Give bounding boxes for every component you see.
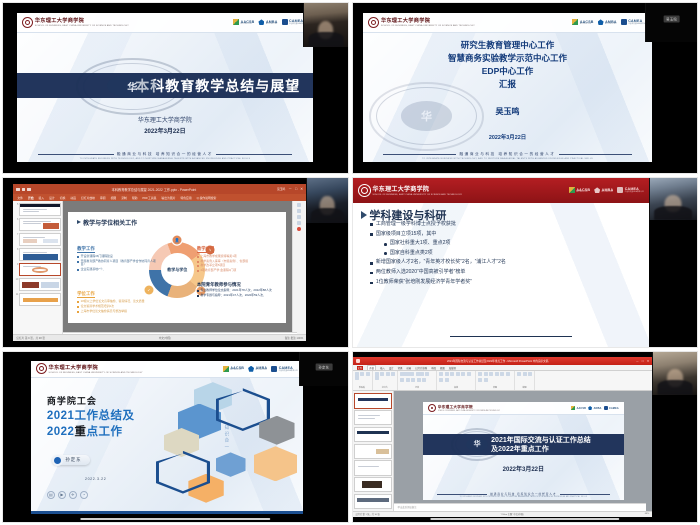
slide-header-2: 华东理工大学商学院 SCHOOL OF BUSINESS, EAST CHINA…	[363, 13, 652, 32]
slide-thumbnail-pane[interactable]: 5 6	[13, 201, 63, 333]
app-icon	[356, 359, 360, 363]
ribbon-tabs[interactable]: 文件 开始 插入 设计 切换 动画 幻灯片放映 审阅 视图 录制 帮助 PDF工…	[13, 194, 306, 201]
participant-body	[655, 206, 693, 220]
shared-slide-4: 华东理工大学商学院 SCHOOL OF BUSINESS, EAST CHINA…	[353, 178, 649, 348]
quadrant-item: 上海市学位论文抽检情况与整改举措	[81, 310, 127, 314]
minimize-icon[interactable]: －	[288, 188, 292, 192]
aacsb-badge-2: AACSB ACCREDITED	[572, 19, 593, 25]
tab-home[interactable]: 开始	[367, 365, 376, 370]
slide-thumbnail[interactable]	[19, 233, 61, 246]
bullet-text: 两位教师入选2020“中国高被引学者”榜单	[376, 270, 465, 276]
camea-icon	[282, 19, 288, 25]
amba-badge-6: AMBA	[588, 406, 601, 410]
bullet-text: 国家自科重点类2项	[390, 251, 433, 257]
bullet-row: 工商管理一级学科博士点授予权获批	[370, 222, 634, 228]
amba-badge-4: AMBA ACCREDITED	[594, 187, 613, 193]
social-icon-row[interactable]: ▤ ▶ ✈ ◔	[47, 491, 88, 499]
redo-icon[interactable]	[27, 188, 31, 192]
thumbnail-number: 10	[14, 278, 18, 281]
ribbon-tab-view[interactable]: 视图	[111, 196, 117, 200]
shared-slide-2: 华东理工大学商学院 SCHOOL OF BUSINESS, EAST CHINA…	[363, 13, 652, 162]
slide-thumbnail[interactable]	[19, 203, 61, 216]
slide-footer-1: 融通商业与科技 培养知识合一的经营人才 TO INTEGRATE BUSINES…	[17, 152, 313, 162]
slide6-date: 2022年3月22日	[423, 464, 624, 473]
slide-editing-stage[interactable]: 教学与学位相关工作 教学与学位 👤 ✎ ✓ ✉ 教学工作	[63, 201, 291, 333]
thumbnail-number: 5	[14, 203, 18, 206]
horizontal-scrollbar-5[interactable]	[81, 518, 270, 521]
quadrant-item: 4项教育部产学 金课程4门项	[200, 269, 236, 273]
ribbon-tab-pdf-tools[interactable]: PDF工具集	[142, 196, 156, 200]
slide-thumbnail[interactable]	[354, 494, 393, 509]
slide4-bottom-rule	[450, 336, 571, 337]
current-slide-canvas-6[interactable]: 华东理工大学商学院 SCHOOL OF BUSINESS, EAST CHINA…	[423, 402, 624, 500]
tab-slideshow[interactable]: 幻灯片放映	[415, 366, 427, 370]
camea-badge-4: CAMEA 中国高质量MBA教育认证	[617, 187, 644, 193]
bullet-row: 两位教师入选2020“中国高被引学者”榜单	[370, 270, 634, 276]
ribbon-tab-design[interactable]: 设计	[49, 196, 55, 200]
video-icon[interactable]: ▶	[58, 491, 66, 499]
quadrant-item: 教学专题与指导：2021年47人次，2022年59人次、	[200, 294, 266, 298]
participant-name-2: 吴玉鸣	[663, 16, 680, 23]
tab-view[interactable]: 视图	[440, 366, 445, 370]
video-tile-4[interactable]: 华东理工大学商学院 SCHOOL OF BUSINESS, EAST CHINA…	[352, 177, 699, 349]
aacsb-icon-2	[572, 19, 578, 25]
shared-slide-5: 华东理工大学商学院 SCHOOL OF BUSINESS, EAST CHINA…	[31, 361, 303, 514]
quadrant-item: 论文答辩学术规范培训2次	[81, 305, 114, 309]
participant-camera-1[interactable]	[303, 3, 348, 47]
accreditation-logos-6: AACSB AMBA CAMEA	[571, 406, 619, 410]
slide-header-4: 华东理工大学商学院 SCHOOL OF BUSINESS, EAST CHINA…	[353, 178, 649, 203]
university-name-cn: 华东理工大学商学院	[35, 17, 129, 24]
bullet-text: 1位教师荣获“张培刚发展经济学青年学者奖”	[376, 280, 472, 286]
tab-review[interactable]: 审阅	[431, 366, 436, 370]
university-name-cn-6: 华东理工大学商学院	[438, 405, 500, 410]
share-icon[interactable]: ✈	[69, 491, 77, 499]
thumbnail-row-selected[interactable]: 9	[14, 263, 61, 276]
university-logo: 华东理工大学商学院 SCHOOL OF BUSINESS, EAST CHINA…	[22, 17, 129, 28]
aacsb-badge-4: AACSB ACCREDITED	[569, 187, 590, 193]
participant-body	[308, 32, 343, 47]
legacy-ribbon[interactable]: 剪贴板 幻灯片 字体 段落 绘图	[353, 371, 653, 391]
legacy-window-controls[interactable]: － □ ✕	[636, 359, 649, 363]
amba-icon-5	[248, 366, 254, 372]
participant-camera-3[interactable]	[306, 178, 347, 224]
document-name: 本科教育教学总结与展望 2021-2022 工作.pptx - PowerPoi…	[34, 187, 274, 192]
slide5-title-line1: 商学院工会	[47, 394, 135, 407]
square-bullet-icon	[370, 223, 373, 226]
square-bullet-icon	[370, 233, 373, 236]
thumbnail-number: 6	[14, 218, 18, 221]
ribbon-group-slides[interactable]: 幻灯片	[373, 371, 399, 390]
slide-thumbnail[interactable]	[354, 444, 393, 459]
ribbon-tab-slideshow[interactable]: 幻灯片放映	[81, 196, 95, 200]
video-tile-5[interactable]: 华东理工大学商学院 SCHOOL OF BUSINESS, EAST CHINA…	[2, 351, 349, 523]
legacy-document-name: 2021年国际交流与认证工作总结及2022年重点工作 - Microsoft P…	[363, 359, 633, 363]
footer-en-2: TO INTEGRATE BUSINESS WITH TECHNOLOGY, A…	[422, 158, 593, 160]
thumbnail-number: 11	[14, 293, 18, 296]
footer-cn-6: 融通商业与科技 培养知识合一的经营人才	[490, 492, 556, 496]
presenter-pill: 孙定东	[52, 455, 89, 465]
ribbon-tab-featured-apps[interactable]: 特色应用	[180, 196, 191, 200]
quadrant-item: 18级以上学位论文盲审抽检、答辩情况、论文质量	[81, 300, 145, 304]
footer-en-6: TO INTEGRATE BUSINESS WITH TECHNOLOGY, A…	[460, 497, 587, 498]
current-slide-canvas[interactable]: 教学与学位相关工作 教学与学位 👤 ✎ ✓ ✉ 教学工作	[68, 212, 286, 322]
ribbon-group-label: 幻灯片	[382, 386, 388, 389]
bullet-text: 国家社科重大1项、重点2项	[390, 241, 451, 247]
slide5-title-line2: 2021工作总结及	[47, 407, 135, 423]
quadrant-young-teachers: 本院青年教师参与情况 专业教师学位论文指导：2021年78人次，2022年88人…	[197, 282, 280, 299]
status-language[interactable]: 中文(中国)	[159, 336, 171, 340]
university-name-cn-4: 华东理工大学商学院	[373, 184, 463, 193]
ribbon-search-box[interactable]: Q 操作说明搜索	[197, 196, 217, 200]
aacsb-icon	[233, 19, 239, 25]
globe-icon[interactable]: ◔	[80, 491, 88, 499]
slide6-title-line1: 2021年国际交流与认证工作总结	[491, 436, 591, 445]
donut-center-label: 教学与学位	[167, 267, 187, 273]
tab-design[interactable]: 设计	[389, 366, 394, 370]
legacy-notes-placeholder: 单击此处添加备注	[397, 506, 416, 509]
horizontal-scrollbar-6[interactable]	[430, 518, 619, 521]
bullet-row: 新增国家级人才2名，“青年英才校长奖”2名，“浦江人才”2名	[370, 260, 634, 266]
minimize-icon[interactable]: －	[636, 359, 639, 363]
pane-icon-design[interactable]	[297, 203, 301, 207]
quadrant-item: 企业实践基地7个、	[81, 268, 106, 272]
ribbon-tab-home[interactable]: 开始	[28, 196, 34, 200]
video-tile-6[interactable]: 2021年国际交流与认证工作总结及2022年重点工作 - Microsoft P…	[352, 351, 699, 523]
legacy-status-bar[interactable]: 幻灯片 第 1 张，共 16 张 “Office 主题” 中文(中国) 68%	[353, 511, 653, 517]
camea-icon-6	[604, 406, 608, 410]
hexagon-shape	[216, 452, 246, 476]
tab-animations[interactable]: 动画	[406, 366, 411, 370]
university-seal-icon-2	[368, 17, 379, 28]
square-bullet-icon	[370, 272, 373, 275]
amba-icon-4	[594, 187, 600, 193]
slide-thumbnail[interactable]	[19, 278, 61, 291]
amba-icon-6	[588, 406, 592, 410]
slide2-line-2: 智慧商务实验教学示范中心工作	[363, 52, 652, 65]
video-tile-1[interactable]: 华东理工大学商学院 SCHOOL OF BUSINESS, EAST CHINA…	[2, 2, 349, 174]
slide-thumbnail[interactable]	[354, 460, 393, 475]
quadrant-item: 上海市教学成果奖特等奖1项	[200, 255, 236, 259]
ribbon-tab-transitions[interactable]: 切换	[60, 196, 66, 200]
slide-thumbnail[interactable]	[19, 218, 61, 231]
participant-body	[658, 380, 693, 394]
amba-badge-2: AMBA ACCREDITED	[598, 19, 617, 25]
participant-body	[311, 208, 343, 224]
slide4-bullet-list: 工商管理一级学科博士点授予权获批 国家级项目立项15项，其中 国家社科重大1项、…	[370, 222, 634, 290]
ribbon-tab-animations[interactable]: 动画	[70, 196, 76, 200]
tab-insert[interactable]: 插入	[380, 366, 385, 370]
seal-glyph-6: 华	[466, 438, 488, 451]
square-bullet-icon	[370, 282, 373, 285]
ribbon-group-clipboard[interactable]: 剪贴板	[353, 371, 373, 390]
legacy-titlebar: 2021年国际交流与认证工作总结及2022年重点工作 - Microsoft P…	[353, 357, 653, 365]
presenter-dot-icon	[54, 457, 61, 464]
slide2-line-1: 研究生教育管理中心工作	[363, 39, 652, 52]
university-name-en-2: SCHOOL OF BUSINESS, EAST CHINA UNIVERSIT…	[381, 25, 475, 27]
aacsb-badge-6: AACSB	[571, 406, 586, 410]
amba-sub: ACCREDITED	[266, 24, 278, 25]
quadrant-heading: 教学工作	[77, 246, 95, 254]
bullet-text: 国家级项目立项15项，其中	[376, 232, 437, 238]
close-icon[interactable]: ✕	[300, 188, 303, 192]
meeting-video-grid: 华东理工大学商学院 SCHOOL OF BUSINESS, EAST CHINA…	[0, 0, 700, 525]
ribbon-tab-record[interactable]: 录制	[121, 196, 127, 200]
triangle-bullet-icon-4	[361, 211, 367, 219]
university-seal-icon-6	[428, 404, 436, 412]
slide-thumbnail[interactable]	[19, 293, 61, 306]
powerpoint-window[interactable]: 本科教育教学总结与展望 2021-2022 工作.pptx - PowerPoi…	[13, 184, 306, 340]
seal-glyph-2: 华	[401, 101, 452, 131]
slide-header-1: 华东理工大学商学院 SCHOOL OF BUSINESS, EAST CHINA…	[17, 13, 313, 32]
university-logo-6: 华东理工大学商学院 SCHOOL OF BUSINESS, EAST CHINA…	[428, 404, 500, 412]
window-controls[interactable]: － □ ✕	[288, 188, 303, 192]
university-seal-icon-4	[358, 184, 371, 197]
thumbnail-row[interactable]: 8	[14, 248, 61, 261]
participant-camera-6[interactable]	[652, 352, 697, 394]
quadrant-heading: 教学成果	[197, 246, 215, 254]
camea-badge-5: CAMEA 中国高质量MBA教育认证	[271, 366, 298, 372]
university-seal-icon	[22, 17, 33, 28]
thumbnail-number: 8	[14, 248, 18, 251]
quadrant-teaching-achievements: 教学成果 上海市教学成果奖特等奖1项 教学案例入库库（市级案例）、省部级 教学改…	[197, 237, 280, 275]
video-tile-3[interactable]: 本科教育教学总结与展望 2021-2022 工作.pptx - PowerPoi…	[2, 177, 349, 349]
right-task-pane[interactable]	[292, 201, 307, 333]
pane-icon-format[interactable]	[297, 209, 301, 213]
ribbon-tab-review[interactable]: 审阅	[100, 196, 106, 200]
powerpoint-body: 5 6	[13, 201, 306, 333]
wechat-icon[interactable]: ▤	[47, 491, 55, 499]
participant-camera-5[interactable]: 孙定东	[299, 352, 347, 386]
tab-transitions[interactable]: 切换	[398, 366, 403, 370]
pane-icon-animation[interactable]	[297, 215, 301, 219]
slide5-title-key: 重	[74, 426, 86, 438]
amba-badge: AMBA ACCREDITED	[258, 19, 277, 25]
footer-cn-1: 融通商业与科技 培养知识合一的经营人才	[117, 152, 213, 157]
aacsb-badge-5: AACSB ACCREDITED	[223, 366, 244, 372]
powerpoint-titlebar: 本科教育教学总结与展望 2021-2022 工作.pptx - PowerPoi…	[13, 184, 306, 194]
thumbnail-number: 7	[14, 233, 18, 236]
close-icon[interactable]: ✕	[647, 359, 650, 363]
camea-icon-5	[271, 366, 277, 372]
save-icon[interactable]	[16, 188, 20, 192]
aacsb-icon-6	[571, 406, 575, 410]
status-bar[interactable]: 幻灯片 第 9 张，共 38 张 中文(中国) 备注 批注 100%	[13, 334, 306, 341]
round-bullet-icon	[384, 252, 387, 255]
slide-thumbnail[interactable]	[354, 427, 393, 442]
ribbon-group-label: 段落	[454, 386, 458, 389]
ribbon-tab-export-image[interactable]: 输出为图片	[161, 196, 175, 200]
university-seal-watermark-2: 华	[369, 82, 485, 151]
accreditation-logos-2: AACSB ACCREDITED AMBA ACCREDITED CAMEA 中…	[572, 19, 647, 25]
ribbon-group-label: 剪贴板	[359, 386, 365, 389]
maximize-icon[interactable]: □	[295, 188, 297, 192]
university-name-cn-2: 华东理工大学商学院	[381, 17, 475, 24]
bullet-text: 工商管理一级学科博士点授予权获批	[376, 222, 456, 228]
aacsb-sub: ACCREDITED	[241, 24, 255, 25]
seal-glyph: 华	[107, 74, 157, 98]
aacsb-icon-4	[569, 187, 575, 193]
slide-thumbnail[interactable]	[19, 248, 61, 261]
quadrant-heading: 本院青年教师参与情况	[197, 282, 280, 288]
legacy-thumbnail-pane[interactable]	[353, 391, 395, 510]
legacy-status-theme[interactable]: “Office 主题” 中文(中国)	[501, 512, 524, 516]
hexagon-shape	[254, 446, 298, 481]
slide-header-6: 华东理工大学商学院 SCHOOL OF BUSINESS, EAST CHINA…	[423, 402, 624, 415]
ribbon-tab-help[interactable]: 帮助	[132, 196, 138, 200]
square-bullet-icon	[370, 262, 373, 265]
university-seal-icon-5	[36, 363, 47, 374]
bullet-text: 新增国家级人才2名，“青年英才校长奖”2名，“浦江人才”2名	[376, 260, 506, 266]
quadrant-item: 开设新课程36门课程建设	[81, 255, 113, 259]
camea-icon-2	[621, 19, 627, 25]
footer-en-1: TO INTEGRATE BUSINESS WITH TECHNOLOGY, A…	[80, 158, 251, 160]
participant-camera-2[interactable]: 吴玉鸣	[645, 3, 697, 42]
donut-node-person-icon: 👤	[173, 235, 182, 244]
pane-icon-record[interactable]	[297, 227, 301, 231]
university-name-en-5: SCHOOL OF BUSINESS, EAST CHINA UNIVERSIT…	[49, 372, 143, 374]
slide-header-5: 华东理工大学商学院 SCHOOL OF BUSINESS, EAST CHINA…	[31, 361, 303, 378]
university-name-en-6: SCHOOL OF BUSINESS, EAST CHINA UNIVERSIT…	[438, 411, 500, 412]
quadrant-heading: 学位工作	[77, 291, 95, 299]
university-name-cn-5: 华东理工大学商学院	[49, 364, 143, 371]
quick-access-toolbar[interactable]	[16, 188, 31, 192]
quadrant-item: 开展教育部产教协同育人项目（教育部产学合作协同育人项目）	[81, 260, 160, 267]
university-name-en-4: SCHOOL OF BUSINESS, EAST CHINA UNIVERSIT…	[373, 194, 463, 196]
thumbnail-row[interactable]: 11	[14, 293, 61, 306]
hexagon-vertical-word: 知识合一	[224, 425, 230, 451]
pane-icon-comments[interactable]	[297, 221, 301, 225]
video-tile-2[interactable]: 华东理工大学商学院 SCHOOL OF BUSINESS, EAST CHINA…	[352, 2, 699, 174]
round-bullet-icon	[384, 243, 387, 246]
university-seal-watermark-6: 华	[451, 428, 503, 461]
amba-icon	[258, 19, 264, 25]
bullet-row: 国家级项目立项15项，其中	[370, 232, 634, 238]
quadrant-teaching-work: 教学工作 开设新课程36门课程建设 开展教育部产教协同育人项目（教育部产学合作协…	[77, 237, 160, 273]
ribbon-group-font[interactable]: 字体	[398, 371, 437, 390]
ribbon-group-drawing[interactable]: 绘图	[476, 371, 515, 390]
maximize-icon[interactable]: □	[642, 359, 644, 363]
camea-badge-2: CAMEA 中国高质量MBA教育认证	[621, 19, 648, 25]
slide-thumbnail-selected[interactable]	[19, 263, 61, 276]
amba-icon-2	[598, 19, 604, 25]
ribbon-group-label: 编辑	[522, 386, 526, 389]
camea-badge-6: CAMEA	[604, 406, 619, 410]
legacy-notes-pane[interactable]: 单击此处添加备注	[394, 503, 646, 511]
slide5-bottom-bar	[31, 511, 303, 514]
thumbnail-row[interactable]: 5	[14, 203, 61, 216]
slide-footer-2: 融通商业与科技 培养知识合一的经营人才 TO INTEGRATE BUSINES…	[363, 152, 652, 162]
slide-subtitle-date-1: 2022年3月22日	[17, 126, 313, 135]
quadrant-degree-work: 学位工作 18级以上学位论文盲审抽检、答辩情况、论文质量 论文答辩学术规范培训2…	[77, 282, 160, 315]
ribbon-group-label: 绘图	[493, 386, 497, 389]
legacy-status-zoom[interactable]: 68%	[645, 513, 649, 515]
camea-icon-4	[617, 187, 623, 193]
slide5-title-year: 2022	[47, 426, 75, 438]
account-name[interactable]: 吴玉鸣	[277, 187, 285, 191]
ribbon-group-editing[interactable]: 编辑	[515, 371, 535, 390]
thumbnail-row[interactable]: 10	[14, 278, 61, 291]
status-zoom[interactable]: 备注 批注 100%	[285, 336, 303, 340]
slide-footer-6: 融通商业与科技 培养知识合一的经营人才 TO INTEGRATE BUSINES…	[423, 492, 624, 500]
thumbnail-number-selected: 9	[14, 263, 18, 266]
university-seal-watermark: 华	[76, 58, 189, 115]
accreditation-logos-5: AACSB ACCREDITED AMBA ACCREDITED CAMEA 中…	[223, 366, 298, 372]
ribbon-tab-insert[interactable]: 插入	[39, 196, 45, 200]
bullet-row-sub: 国家自科重点类2项	[384, 251, 634, 257]
slide5-date: 2022.3.22	[85, 477, 106, 481]
shared-slide-1: 华东理工大学商学院 SCHOOL OF BUSINESS, EAST CHINA…	[17, 13, 313, 162]
bullet-row-sub: 国家社科重大1项、重点2项	[384, 241, 634, 247]
thumbnail-row[interactable]: 7	[14, 233, 61, 246]
powerpoint-legacy-window[interactable]: 2021年国际交流与认证工作总结及2022年重点工作 - Microsoft P…	[353, 357, 653, 516]
aacsb-icon-5	[223, 366, 229, 372]
amba-badge-5: AMBA ACCREDITED	[248, 366, 267, 372]
undo-icon[interactable]	[22, 188, 26, 192]
university-logo-4: 华东理工大学商学院 SCHOOL OF BUSINESS, EAST CHINA…	[358, 184, 463, 197]
slide2-line-3: EDP中心工作	[363, 65, 652, 78]
slide-subtitle-org-1: 华东理工大学商学院	[17, 115, 313, 124]
university-logo-5: 华东理工大学商学院 SCHOOL OF BUSINESS, EAST CHINA…	[36, 363, 143, 374]
footer-cn-2: 融通商业与科技 培养知识合一的经营人才	[459, 152, 555, 157]
ribbon-group-label: 字体	[415, 386, 419, 389]
accreditation-logos-4: AACSB ACCREDITED AMBA ACCREDITED CAMEA 中…	[569, 187, 644, 193]
slide-thumbnail[interactable]	[354, 410, 393, 425]
ribbon-tab-file[interactable]: 文件	[17, 196, 23, 200]
thumbnail-row[interactable]: 6	[14, 218, 61, 231]
slide-thumbnail-selected[interactable]	[354, 393, 393, 408]
legacy-status-slide-count: 幻灯片 第 1 张，共 16 张	[356, 512, 380, 516]
accreditation-logos: AACSB ACCREDITED AMBA ACCREDITED	[233, 19, 308, 25]
university-logo-2: 华东理工大学商学院 SCHOOL OF BUSINESS, EAST CHINA…	[368, 17, 475, 28]
university-name-en: SCHOOL OF BUSINESS, EAST CHINA UNIVERSIT…	[35, 25, 129, 27]
tab-file[interactable]: 文件	[357, 366, 364, 370]
tab-addins[interactable]: 加载项	[449, 366, 456, 370]
slide5-presenter: 孙定东	[65, 457, 81, 463]
slide5-title-line3: 2022重点工作	[47, 423, 135, 439]
ribbon-group-paragraph[interactable]: 段落	[437, 371, 476, 390]
legacy-body: 华东理工大学商学院 SCHOOL OF BUSINESS, EAST CHINA…	[353, 391, 653, 510]
aacsb-badge: AACSB ACCREDITED	[233, 19, 254, 25]
slide5-title-rest: 点工作	[86, 426, 122, 438]
slide-thumbnail[interactable]	[354, 477, 393, 492]
legacy-slide-stage[interactable]: 华东理工大学商学院 SCHOOL OF BUSINESS, EAST CHINA…	[394, 391, 652, 510]
participant-camera-4[interactable]	[649, 178, 697, 220]
status-slide-count: 幻灯片 第 9 张，共 38 张	[16, 336, 45, 340]
bullet-row: 1位教师荣获“张培刚发展经济学青年学者奖”	[370, 280, 634, 286]
participant-name-5: 孙定东	[316, 363, 333, 370]
